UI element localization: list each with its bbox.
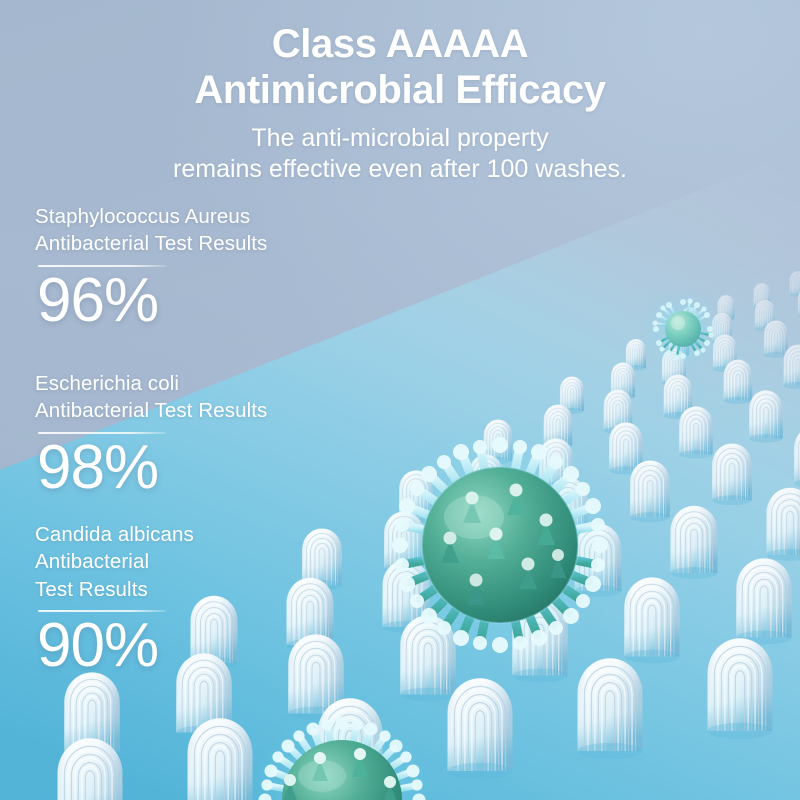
stat-value: 98% (37, 436, 267, 499)
stat-value: 96% (37, 269, 267, 332)
stat-label: Staphylococcus Aureus Antibacterial Test… (35, 203, 267, 258)
subhead-line-1: The anti-microbial property (251, 124, 548, 152)
antimicrobial-efficacy-poster: Class AAAAA Antimicrobial Efficacy The a… (0, 0, 800, 800)
stat-value: 90% (37, 614, 194, 677)
stat-block-staphylococcus-aureus: Staphylococcus Aureus Antibacterial Test… (35, 203, 267, 332)
stat-block-candida-albicans: Candida albicans Antibacterial Test Resu… (35, 521, 194, 678)
headline-line-2: Antimicrobial Efficacy (194, 68, 605, 112)
headline-line-1: Class AAAAA (272, 22, 528, 66)
page-subtitle: The anti-microbial property remains effe… (0, 123, 800, 185)
stat-block-escherichia-coli: Escherichia coli Antibacterial Test Resu… (35, 370, 267, 499)
stat-label: Candida albicans Antibacterial Test Resu… (35, 521, 194, 603)
stat-label: Escherichia coli Antibacterial Test Resu… (35, 370, 267, 425)
subhead-line-2: remains effective even after 100 washes. (173, 155, 627, 183)
page-title: Class AAAAA Antimicrobial Efficacy (0, 22, 800, 113)
poster-header: Class AAAAA Antimicrobial Efficacy The a… (0, 22, 800, 185)
text-overlay: Class AAAAA Antimicrobial Efficacy The a… (0, 0, 800, 800)
